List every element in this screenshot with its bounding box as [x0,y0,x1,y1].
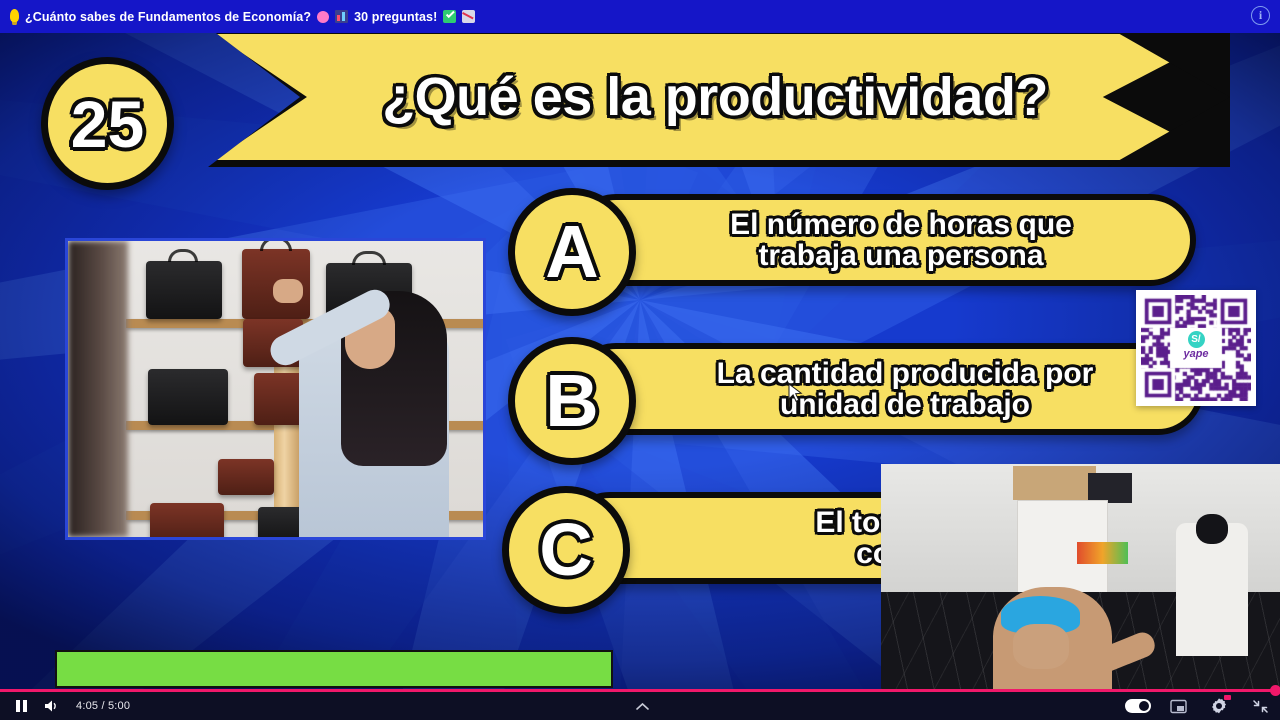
bar-chart-emoji [335,10,348,23]
video-player-stage: ¿Cuánto sabes de Fundamentos de Economía… [0,0,1280,720]
video-progress-knob[interactable] [1270,685,1280,696]
qr-code-overlay: S/ yape [1136,290,1256,406]
question-illustration [65,238,486,540]
answer-b-letter: B [545,364,598,438]
answer-b-letter-badge: B [508,337,636,465]
video-caption-bar: ¿Cuánto sabes de Fundamentos de Economía… [0,0,1280,33]
webcam-overlay [881,464,1280,692]
answer-a-letter: A [545,215,598,289]
answer-a-pill: El número de horas que trabaja una perso… [570,194,1196,286]
caption-count: 30 preguntas! [354,10,437,24]
answer-b-text: La cantidad producida por unidad de trab… [655,358,1120,420]
pink-circle-emoji [317,11,329,23]
miniplayer-button[interactable] [1164,692,1192,720]
player-left-controls: 4:05 / 5:00 [0,692,130,720]
question-number-badge: 25 [41,57,174,190]
down-chart-emoji [462,10,475,23]
volume-button[interactable] [37,692,65,720]
caption-title: ¿Cuánto sabes de Fundamentos de Economía… [25,10,311,24]
yape-logo: S/ yape [1174,328,1218,364]
quiz-timer-fill [57,652,611,686]
answer-a-letter-badge: A [508,188,636,316]
yape-label: yape [1183,349,1208,360]
player-right-controls [1125,692,1274,720]
quiz-timer-bar [55,650,613,688]
yape-symbol: S/ [1188,331,1205,348]
green-check-emoji [443,10,456,23]
answer-c-letter: C [539,513,592,587]
exit-fullscreen-button[interactable] [1246,692,1274,720]
answer-b-pill: La cantidad producida por unidad de trab… [570,343,1204,435]
settings-new-badge [1224,695,1231,700]
mouse-cursor [788,383,803,410]
time-display: 4:05 / 5:00 [76,700,130,712]
pause-button[interactable] [7,692,35,720]
bulb-emoji [10,9,19,22]
info-icon[interactable]: i [1251,6,1270,25]
chevron-up-icon[interactable] [632,692,652,720]
answer-option-b[interactable]: La cantidad producida por unidad de trab… [508,337,1200,467]
answer-c-letter-badge: C [502,486,630,614]
question-number-value: 25 [71,91,144,157]
autoplay-toggle[interactable] [1125,699,1151,713]
illustration-art [68,241,483,537]
settings-button[interactable] [1205,692,1233,720]
question-banner: ¿Qué es la productividad? 25 [0,27,1280,173]
video-progress-bar[interactable] [0,689,1280,692]
video-player-controls: 4:05 / 5:00 [0,692,1280,720]
question-text: ¿Qué es la productividad? [250,27,1180,167]
video-progress-fill [0,689,1275,692]
answer-option-a[interactable]: El número de horas que trabaja una perso… [508,188,1200,318]
answer-a-text: El número de horas que trabaja una perso… [668,209,1098,271]
